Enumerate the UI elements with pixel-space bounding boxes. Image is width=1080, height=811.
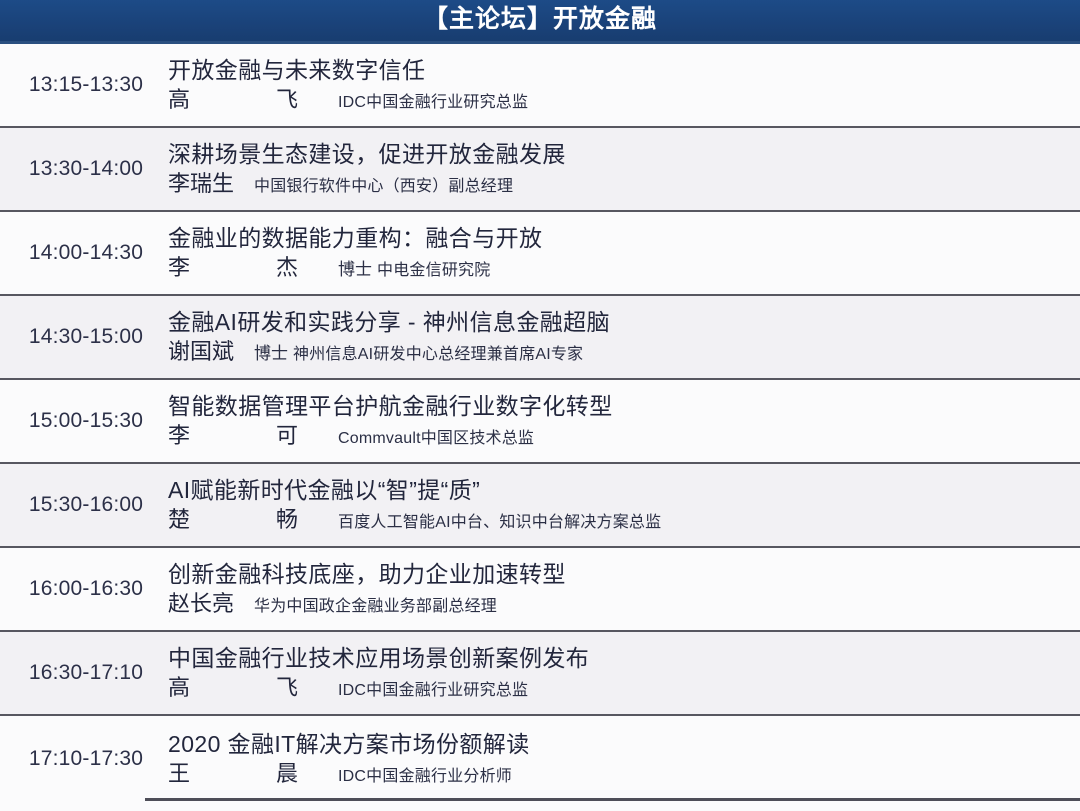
speaker-line: 高 飞IDC中国金融行业研究总监 [168, 675, 1064, 701]
session-content: 创新金融科技底座，助力企业加速转型赵长亮华为中国政企金融业务部副总经理 [168, 560, 1080, 617]
session-content: 2020 金融IT解决方案市场份额解读王 晨IDC中国金融行业分析师 [168, 730, 1080, 787]
speaker-name: 李 可 [168, 423, 330, 449]
speaker-affiliation: 华为中国政企金融业务部副总经理 [254, 597, 497, 616]
agenda-page: 【主论坛】开放金融 13:15-13:30开放金融与未来数字信任高 飞IDC中国… [0, 0, 1080, 811]
agenda-row: 15:00-15:30智能数据管理平台护航金融行业数字化转型李 可Commvau… [0, 380, 1080, 464]
session-content: 智能数据管理平台护航金融行业数字化转型李 可Commvault中国区技术总监 [168, 392, 1080, 449]
session-time: 15:30-16:00 [0, 493, 168, 517]
speaker-degree: 博士 [254, 344, 288, 364]
agenda-row: 13:15-13:30开放金融与未来数字信任高 飞IDC中国金融行业研究总监 [0, 44, 1080, 128]
speaker-line: 谢国斌博士神州信息AI研发中心总经理兼首席AI专家 [168, 339, 1064, 365]
speaker-name: 赵长亮 [168, 591, 246, 617]
agenda-row: 14:30-15:00金融AI研发和实践分享 - 神州信息金融超脑谢国斌博士神州… [0, 296, 1080, 380]
session-content: 金融业的数据能力重构：融合与开放李 杰博士中电金信研究院 [168, 224, 1080, 281]
speaker-line: 李瑞生中国银行软件中心（西安）副总经理 [168, 171, 1064, 197]
session-title: 开放金融与未来数字信任 [168, 56, 1064, 84]
session-time: 17:10-17:30 [0, 747, 168, 771]
session-content: 开放金融与未来数字信任高 飞IDC中国金融行业研究总监 [168, 56, 1080, 113]
session-title: 智能数据管理平台护航金融行业数字化转型 [168, 392, 1064, 420]
session-content: 深耕场景生态建设，促进开放金融发展李瑞生中国银行软件中心（西安）副总经理 [168, 140, 1080, 197]
speaker-affiliation: 百度人工智能AI中台、知识中台解决方案总监 [338, 513, 661, 532]
speaker-affiliation: IDC中国金融行业分析师 [338, 767, 512, 786]
session-time: 16:00-16:30 [0, 577, 168, 601]
bottom-divider [145, 798, 1080, 801]
session-time: 14:30-15:00 [0, 325, 168, 349]
agenda-row: 15:30-16:00AI赋能新时代金融以“智”提“质”楚 畅百度人工智能AI中… [0, 464, 1080, 548]
speaker-affiliation: 中国银行软件中心（西安）副总经理 [254, 177, 513, 196]
speaker-name: 高 飞 [168, 87, 330, 113]
speaker-name: 楚 畅 [168, 507, 330, 533]
speaker-affiliation: IDC中国金融行业研究总监 [338, 681, 528, 700]
session-time: 15:00-15:30 [0, 409, 168, 433]
agenda-row: 16:00-16:30创新金融科技底座，助力企业加速转型赵长亮华为中国政企金融业… [0, 548, 1080, 632]
session-content: 金融AI研发和实践分享 - 神州信息金融超脑谢国斌博士神州信息AI研发中心总经理… [168, 308, 1080, 365]
session-title: 创新金融科技底座，助力企业加速转型 [168, 560, 1064, 588]
speaker-affiliation: IDC中国金融行业研究总监 [338, 93, 528, 112]
session-title: 金融业的数据能力重构：融合与开放 [168, 224, 1064, 252]
speaker-name: 李瑞生 [168, 171, 246, 197]
session-title: AI赋能新时代金融以“智”提“质” [168, 476, 1064, 504]
forum-header-bar: 【主论坛】开放金融 [0, 0, 1080, 44]
agenda-row: 16:30-17:10中国金融行业技术应用场景创新案例发布高 飞IDC中国金融行… [0, 632, 1080, 716]
session-title: 中国金融行业技术应用场景创新案例发布 [168, 644, 1064, 672]
agenda-row: 17:10-17:302020 金融IT解决方案市场份额解读王 晨IDC中国金融… [0, 716, 1080, 801]
speaker-line: 赵长亮华为中国政企金融业务部副总经理 [168, 591, 1064, 617]
session-time: 16:30-17:10 [0, 661, 168, 685]
speaker-affiliation: 中电金信研究院 [377, 261, 490, 280]
speaker-name: 王 晨 [168, 761, 330, 787]
speaker-line: 李 杰博士中电金信研究院 [168, 255, 1064, 281]
agenda-list: 13:15-13:30开放金融与未来数字信任高 飞IDC中国金融行业研究总监13… [0, 44, 1080, 801]
agenda-row: 14:00-14:30金融业的数据能力重构：融合与开放李 杰博士中电金信研究院 [0, 212, 1080, 296]
session-content: 中国金融行业技术应用场景创新案例发布高 飞IDC中国金融行业研究总监 [168, 644, 1080, 701]
session-title: 2020 金融IT解决方案市场份额解读 [168, 730, 1064, 758]
session-time: 13:15-13:30 [0, 73, 168, 97]
session-title: 深耕场景生态建设，促进开放金融发展 [168, 140, 1064, 168]
session-title: 金融AI研发和实践分享 - 神州信息金融超脑 [168, 308, 1064, 336]
session-time: 14:00-14:30 [0, 241, 168, 265]
session-content: AI赋能新时代金融以“智”提“质”楚 畅百度人工智能AI中台、知识中台解决方案总… [168, 476, 1080, 533]
speaker-line: 高 飞IDC中国金融行业研究总监 [168, 87, 1064, 113]
speaker-line: 李 可Commvault中国区技术总监 [168, 423, 1064, 449]
speaker-name: 高 飞 [168, 675, 330, 701]
page-title: 【主论坛】开放金融 [423, 7, 657, 32]
session-time: 13:30-14:00 [0, 157, 168, 181]
speaker-affiliation: 神州信息AI研发中心总经理兼首席AI专家 [293, 345, 583, 364]
speaker-name: 李 杰 [168, 255, 330, 281]
speaker-line: 王 晨IDC中国金融行业分析师 [168, 761, 1064, 787]
speaker-name: 谢国斌 [168, 339, 246, 365]
speaker-affiliation: Commvault中国区技术总监 [338, 429, 534, 448]
speaker-degree: 博士 [338, 260, 372, 280]
agenda-row: 13:30-14:00深耕场景生态建设，促进开放金融发展李瑞生中国银行软件中心（… [0, 128, 1080, 212]
speaker-line: 楚 畅百度人工智能AI中台、知识中台解决方案总监 [168, 507, 1064, 533]
